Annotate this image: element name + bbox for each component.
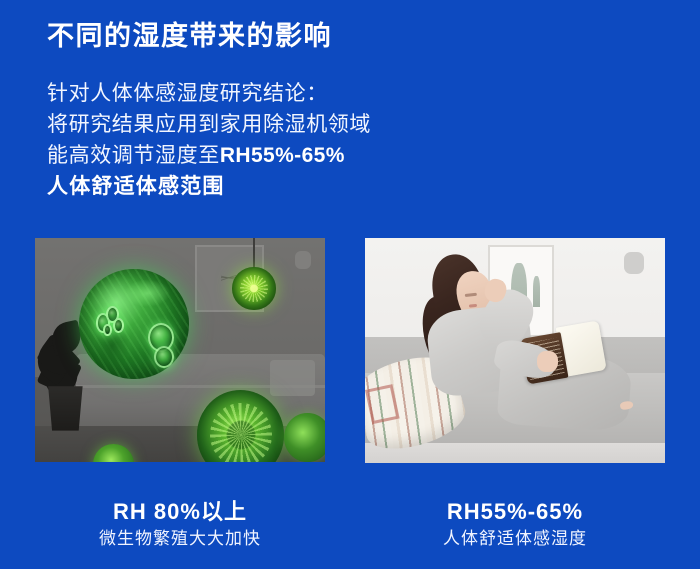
caption-title: RH 80%以上 [35, 498, 325, 526]
wall-knob-icon [295, 251, 311, 269]
caption-subtitle: 微生物繁殖大大加快 [35, 526, 325, 552]
microbe-cell-icon [154, 346, 174, 368]
caption-comfort-humidity: RH55%-65% 人体舒适体感湿度 [365, 498, 665, 552]
plant-pot [46, 386, 85, 430]
plant-leaf [49, 320, 83, 356]
foot [620, 400, 634, 410]
caption-high-humidity: RH 80%以上 微生物繁殖大大加快 [35, 498, 325, 552]
microbe-cell-icon [103, 324, 112, 336]
body-line-3-prefix: 能高效调节湿度至 [47, 144, 220, 167]
bright-room-scene [365, 238, 665, 463]
hand [537, 351, 558, 372]
dim-room-scene [35, 238, 325, 462]
person-reading [401, 254, 635, 448]
caption-title: RH55%-65% [365, 498, 665, 526]
body-line-3: 能高效调节湿度至RH55%-65% [47, 140, 371, 171]
microbe-sphere-icon [232, 267, 276, 310]
body-line-2: 将研究结果应用到家用除湿机领域 [47, 109, 371, 140]
hanging-cord [253, 238, 255, 269]
body-line-4: 人体舒适体感范围 [47, 171, 371, 202]
caption-subtitle: 人体舒适体感湿度 [365, 526, 665, 552]
microbe-cell-icon [113, 318, 124, 333]
body-copy: 针对人体体感湿度研究结论： 将研究结果应用到家用除湿机领域 能高效调节湿度至RH… [47, 78, 371, 202]
page-title: 不同的湿度带来的影响 [47, 18, 332, 54]
body-line-1: 针对人体体感湿度研究结论： [47, 78, 371, 109]
body-line-3-emphasis: RH55%-65% [220, 144, 345, 167]
poster-root: 不同的湿度带来的影响 针对人体体感湿度研究结论： 将研究结果应用到家用除湿机领域… [0, 0, 700, 569]
panel-image-high-humidity [35, 238, 325, 462]
panel-image-comfort-humidity [365, 238, 665, 463]
microbe-sphere-icon [284, 413, 325, 462]
